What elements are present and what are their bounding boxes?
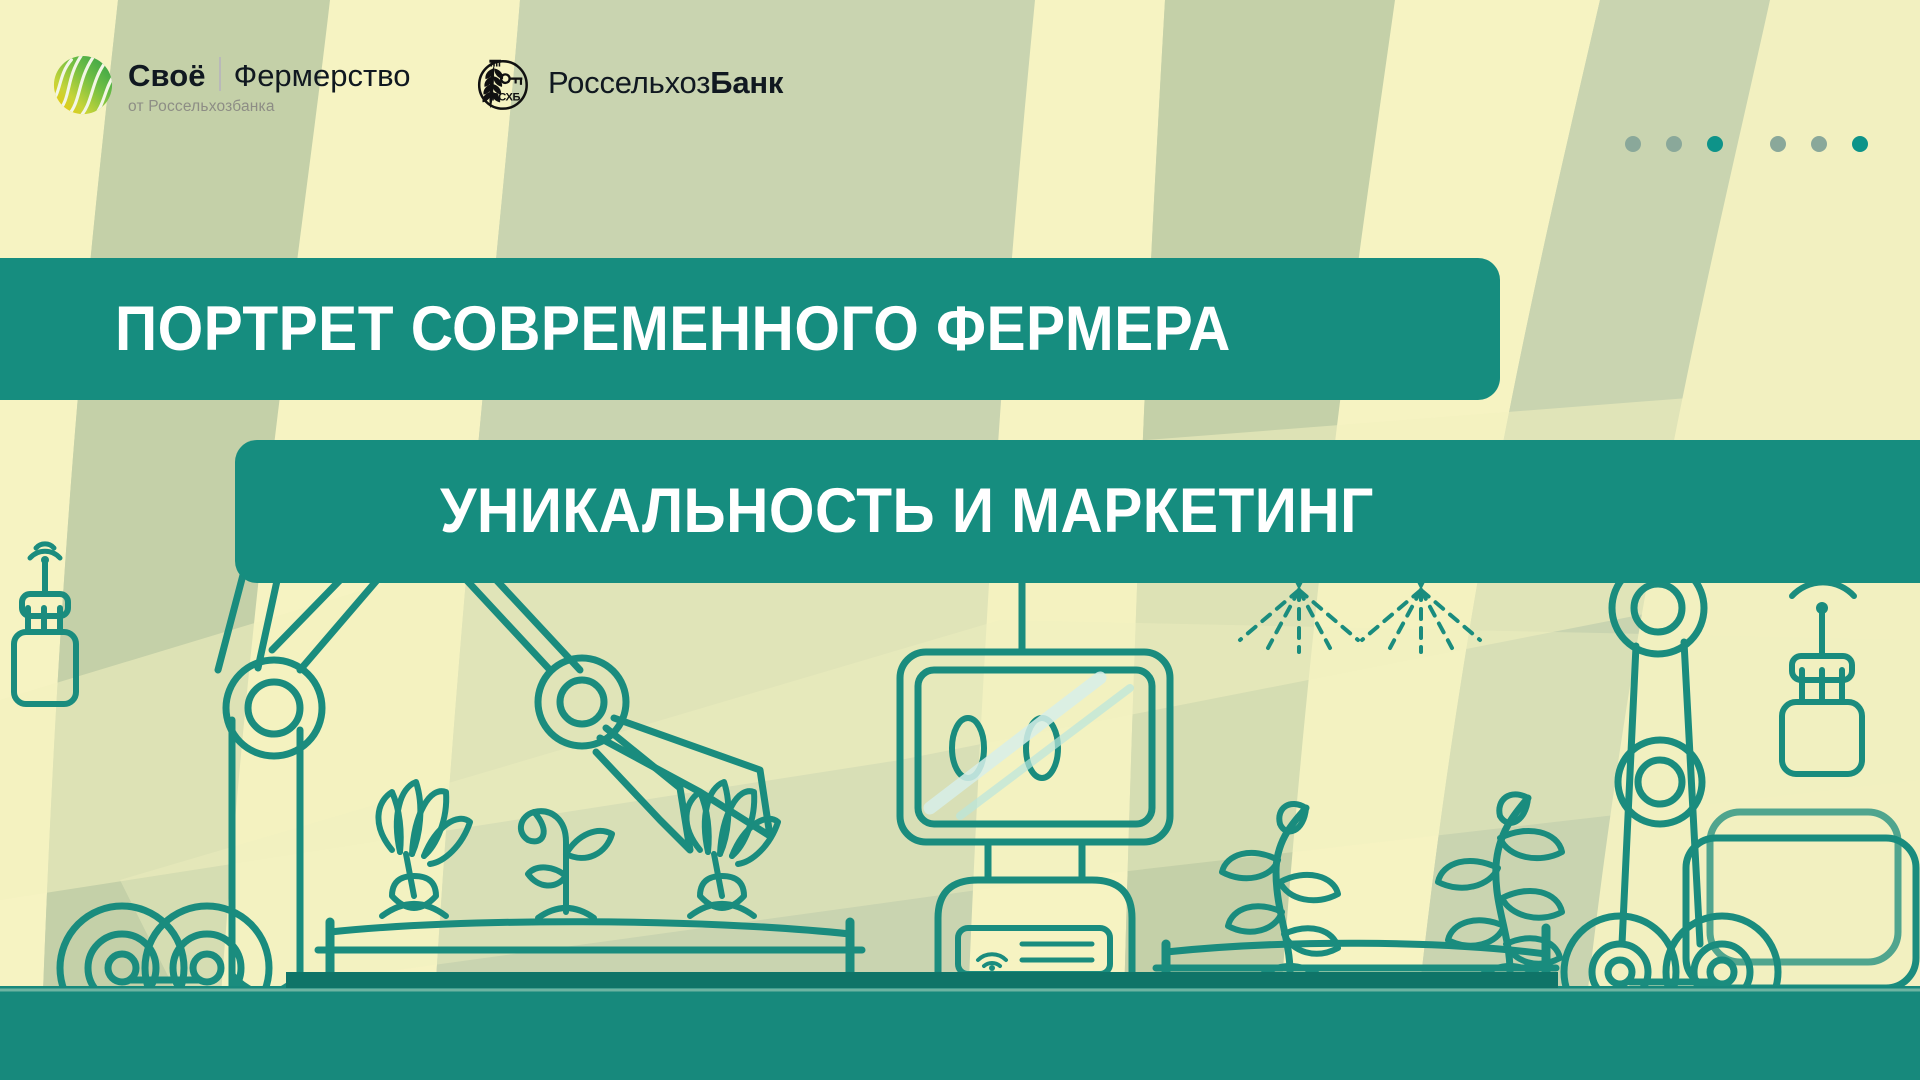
slide-header: Своё Фермерство от Россельхозбанка <box>0 0 1920 200</box>
title-banner: ПОРТРЕТ СОВРЕМЕННОГО ФЕРМЕРА <box>0 258 1500 400</box>
rshb-letters: РСХБ <box>492 91 521 103</box>
subtitle-banner: УНИКАЛЬНОСТЬ И МАРКЕТИНГ <box>235 440 1920 583</box>
ground-strip <box>0 972 1920 1080</box>
robot-body <box>938 842 1132 974</box>
antenna-tower-right <box>1782 571 1862 774</box>
title-banner-text: ПОРТРЕТ СОВРЕМЕННОГО ФЕРМЕРА <box>115 298 1231 361</box>
robot-screen-face <box>900 652 1170 842</box>
progress-dot-1[interactable] <box>1625 136 1641 152</box>
bank-name-bold: Банк <box>710 65 783 100</box>
sprout-plant <box>521 811 612 918</box>
svoe-fermerstvo-logo[interactable]: Своё Фермерство от Россельхозбанка <box>52 52 411 116</box>
rover-right <box>1564 562 1916 1028</box>
progress-dot-3[interactable] <box>1707 136 1723 152</box>
rshb-emblem-icon: РСХБ <box>470 52 532 114</box>
vine-plant-1 <box>1222 804 1338 976</box>
subtitle-banner-text: УНИКАЛЬНОСТЬ И МАРКЕТИНГ <box>440 480 1374 543</box>
progress-dot-4[interactable] <box>1770 136 1786 152</box>
slide-root: Своё Фермерство от Россельхозбанка <box>0 0 1920 1080</box>
bank-name-light: Россельхоз <box>548 65 710 100</box>
rosselkhozbank-logo[interactable]: РСХБ РоссельхозБанк <box>470 52 783 114</box>
svoe-subtitle: от Россельхозбанка <box>128 98 411 116</box>
svoe-word-primary: Своё <box>128 58 206 94</box>
progress-dot-6[interactable] <box>1852 136 1868 152</box>
antenna-tower-left <box>14 544 76 704</box>
robot-control-panel <box>958 928 1110 974</box>
lettuce-plant <box>378 782 470 916</box>
bank-name: РоссельхозБанк <box>548 65 783 101</box>
svoe-circle-logo-icon <box>52 54 114 116</box>
smart-farming-illustration <box>0 520 1920 1080</box>
progress-dot-5[interactable] <box>1811 136 1827 152</box>
logo-divider <box>219 57 221 91</box>
svoe-word-secondary: Фермерство <box>234 58 411 94</box>
progress-dots[interactable] <box>1625 136 1868 152</box>
progress-dot-2[interactable] <box>1666 136 1682 152</box>
planting-bed-left <box>318 922 862 972</box>
